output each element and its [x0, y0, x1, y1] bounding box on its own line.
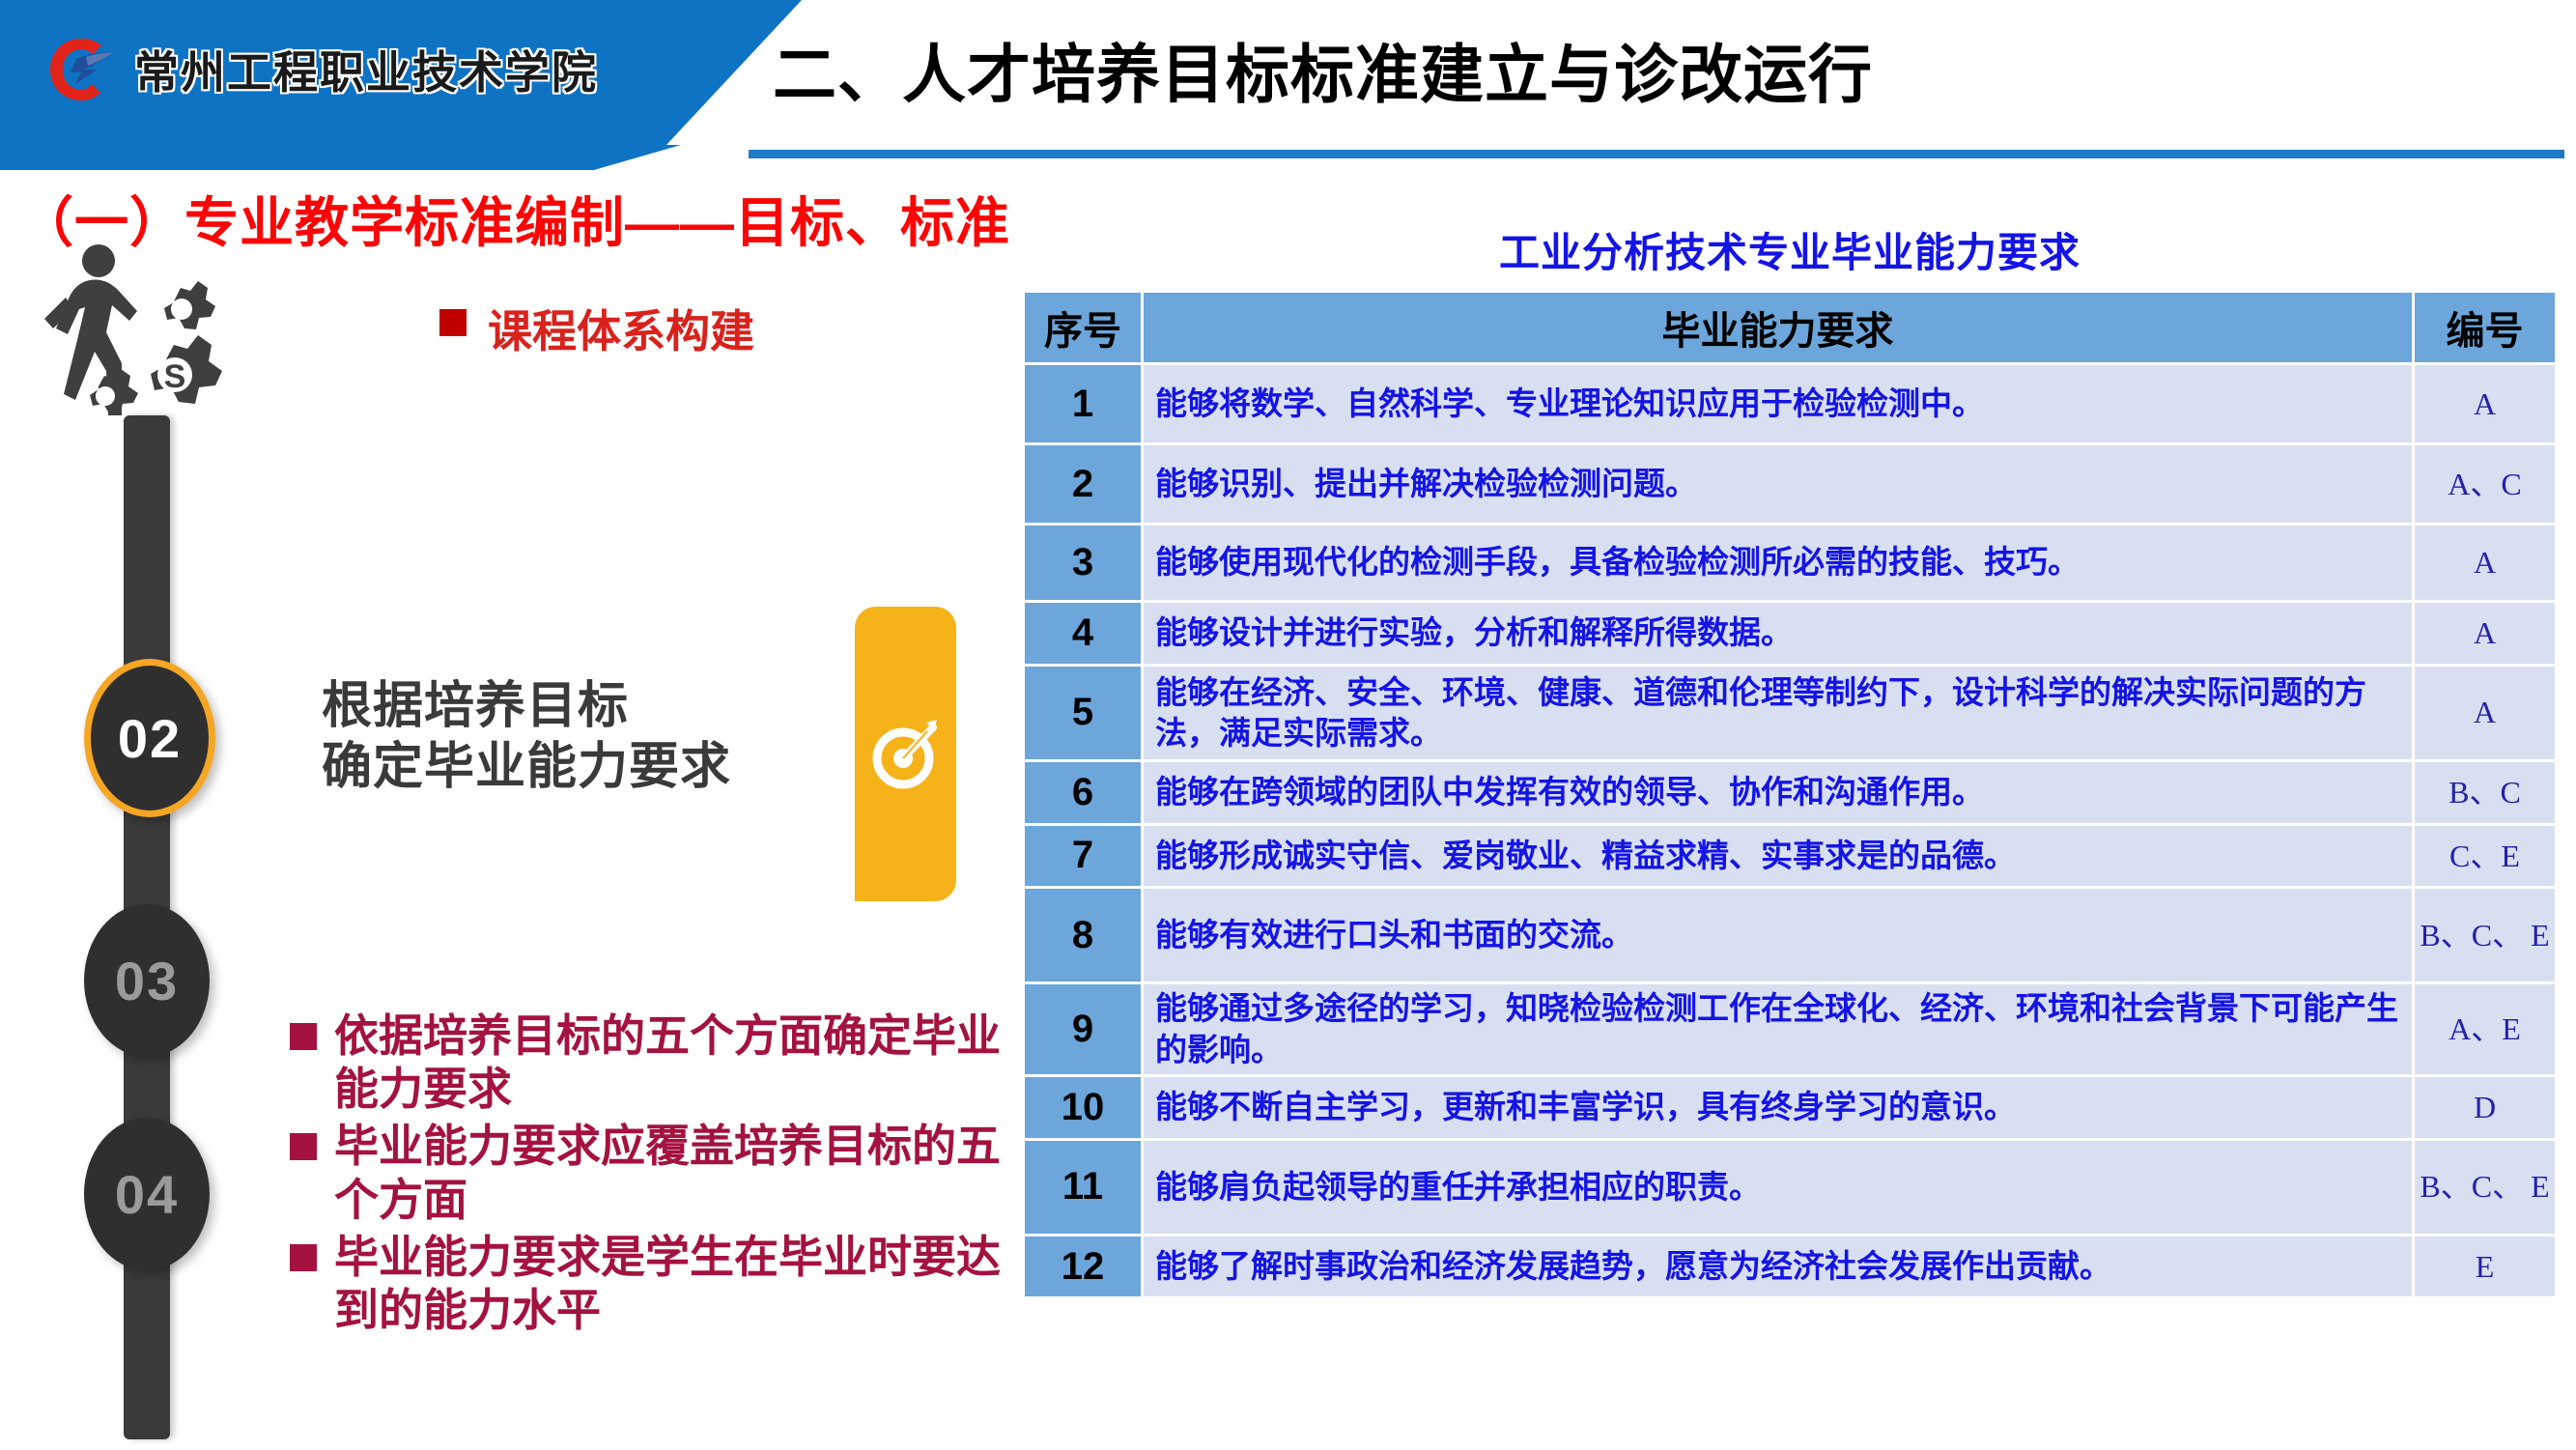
graduation-capability-table: 序号 毕业能力要求 编号 1能够将数学、自然科学、专业理论知识应用于检验检测中。… [1022, 290, 2558, 1299]
cell-code: A [2415, 667, 2555, 759]
timeline-node-02-label: 02 [118, 707, 182, 770]
table-body: 1能够将数学、自然科学、专业理论知识应用于检验检测中。A2能够识别、提出并解决检… [1025, 365, 2555, 1296]
table-header-row: 序号 毕业能力要求 编号 [1025, 293, 2555, 362]
university-crest-icon [43, 34, 119, 105]
table-row: 9能够通过多途径的学习，知晓检验检测工作在全球化、经济、环境和社会背景下可能产生… [1025, 984, 2555, 1073]
header-banner-lower-bar-diagonal [439, 145, 681, 170]
cell-no: 9 [1025, 984, 1141, 1073]
square-marker-icon [290, 1244, 317, 1271]
square-marker-icon [290, 1133, 317, 1160]
runner-with-gears-icon: S [29, 240, 251, 438]
timeline-node-02[interactable]: 02 [84, 659, 215, 817]
table-row: 3能够使用现代化的检测手段，具备检验检测所必需的技能、技巧。A [1025, 526, 2555, 600]
table-row: 8能够有效进行口头和书面的交流。B、C、 E [1025, 889, 2555, 981]
column-header-no: 序号 [1025, 293, 1141, 362]
cell-code: B、C、 E [2415, 889, 2555, 981]
cell-requirement: 能够将数学、自然科学、专业理论知识应用于检验检测中。 [1144, 365, 2412, 442]
cell-no: 7 [1025, 826, 1141, 887]
logo-text: 常州工程职业技术学院 [134, 38, 598, 101]
table-row: 10能够不断自主学习，更新和丰富学识，具有终身学习的意识。D [1025, 1077, 2555, 1138]
list-item: 毕业能力要求是学生在毕业时要达到的能力水平 [290, 1231, 1005, 1337]
square-marker-icon [290, 1023, 317, 1050]
university-logo: 常州工程职业技术学院 [43, 25, 623, 114]
cell-no: 12 [1025, 1237, 1141, 1297]
cell-requirement: 能够了解时事政治和经济发展趋势，愿意为经济社会发展作出贡献。 [1144, 1237, 2412, 1297]
cell-no: 1 [1025, 365, 1141, 442]
cell-requirement: 能够肩负起领导的重任并承担相应的职责。 [1144, 1141, 2412, 1234]
table-title: 工业分析技术专业毕业能力要求 [1022, 220, 2558, 279]
cell-no: 2 [1025, 445, 1141, 523]
key-points-list: 依据培养目标的五个方面确定毕业能力要求 毕业能力要求应覆盖培养目标的五个方面 毕… [290, 1009, 1005, 1341]
cell-requirement: 能够在跨领域的团队中发挥有效的领导、协作和沟通作用。 [1144, 762, 2412, 823]
list-item-text: 毕业能力要求应覆盖培养目标的五个方面 [334, 1120, 1005, 1226]
cell-requirement: 能够有效进行口头和书面的交流。 [1144, 889, 2412, 981]
cell-requirement: 能够在经济、安全、环境、健康、道德和伦理等制约下，设计科学的解决实际问题的方法，… [1144, 667, 2412, 759]
cell-requirement: 能够通过多途径的学习，知晓检验检测工作在全球化、经济、环境和社会背景下可能产生的… [1144, 984, 2412, 1073]
table-row: 11能够肩负起领导的重任并承担相应的职责。B、C、 E [1025, 1141, 2555, 1234]
list-item-text: 依据培养目标的五个方面确定毕业能力要求 [334, 1009, 1005, 1116]
cell-no: 10 [1025, 1077, 1141, 1138]
cell-no: 4 [1025, 603, 1141, 664]
timeline-node-04-label: 04 [115, 1163, 179, 1226]
target-icon-card [855, 607, 956, 901]
cell-code: E [2415, 1237, 2555, 1297]
cell-code: B、C、 E [2415, 1141, 2555, 1234]
step-title: 根据培养目标 确定毕业能力要求 [322, 676, 731, 799]
list-item: 依据培养目标的五个方面确定毕业能力要求 [290, 1009, 1005, 1116]
square-marker-icon [439, 309, 467, 336]
column-header-req: 毕业能力要求 [1144, 293, 2412, 362]
step-title-line2: 确定毕业能力要求 [322, 737, 731, 798]
cell-no: 11 [1025, 1141, 1141, 1234]
table-row: 2能够识别、提出并解决检验检测问题。A、C [1025, 445, 2555, 523]
table-row: 12能够了解时事政治和经济发展趋势，愿意为经济社会发展作出贡献。E [1025, 1237, 2555, 1297]
timeline-node-04[interactable]: 04 [84, 1118, 210, 1270]
cell-code: A [2415, 365, 2555, 442]
header-underline [749, 150, 2564, 158]
cell-code: D [2415, 1077, 2555, 1138]
target-with-arrow-icon [867, 716, 945, 793]
cell-requirement: 能够形成诚实守信、爱岗敬业、精益求精、实事求是的品德。 [1144, 826, 2412, 887]
page-title: 二、人才培养目标标准建立与诊改运行 [773, 21, 2415, 118]
cell-code: A、C [2415, 445, 2555, 523]
cell-no: 6 [1025, 762, 1141, 823]
list-item-text: 毕业能力要求是学生在毕业时要达到的能力水平 [334, 1231, 1005, 1337]
table-row: 4能够设计并进行实验，分析和解释所得数据。A [1025, 603, 2555, 664]
cell-code: B、C [2415, 762, 2555, 823]
timeline-node-03-label: 03 [115, 950, 179, 1012]
course-system-label: 课程体系构建 [488, 297, 754, 360]
cell-no: 5 [1025, 667, 1141, 759]
cell-no: 3 [1025, 526, 1141, 600]
table-row: 5能够在经济、安全、环境、健康、道德和伦理等制约下，设计科学的解决实际问题的方法… [1025, 667, 2555, 759]
course-system-bullet: 课程体系构建 [439, 297, 754, 360]
svg-text:S: S [164, 358, 186, 395]
cell-code: C、E [2415, 826, 2555, 887]
cell-requirement: 能够使用现代化的检测手段，具备检验检测所必需的技能、技巧。 [1144, 526, 2412, 600]
header-banner-lower-bar [0, 145, 439, 170]
step-title-line1: 根据培养目标 [322, 676, 731, 737]
cell-code: A [2415, 526, 2555, 600]
cell-code: A、E [2415, 984, 2555, 1073]
table-row: 7能够形成诚实守信、爱岗敬业、精益求精、实事求是的品德。C、E [1025, 826, 2555, 887]
cell-no: 8 [1025, 889, 1141, 981]
cell-requirement: 能够识别、提出并解决检验检测问题。 [1144, 445, 2412, 523]
table-row: 6能够在跨领域的团队中发挥有效的领导、协作和沟通作用。B、C [1025, 762, 2555, 823]
table-row: 1能够将数学、自然科学、专业理论知识应用于检验检测中。A [1025, 365, 2555, 442]
cell-requirement: 能够设计并进行实验，分析和解释所得数据。 [1144, 603, 2412, 664]
timeline-node-03[interactable]: 03 [84, 904, 210, 1057]
slide-root: 常州工程职业技术学院 二、人才培养目标标准建立与诊改运行 （一）专业教学标准编制… [0, 0, 2576, 1450]
cell-requirement: 能够不断自主学习，更新和丰富学识，具有终身学习的意识。 [1144, 1077, 2412, 1138]
column-header-code: 编号 [2415, 293, 2555, 362]
list-item: 毕业能力要求应覆盖培养目标的五个方面 [290, 1120, 1005, 1226]
cell-code: A [2415, 603, 2555, 664]
